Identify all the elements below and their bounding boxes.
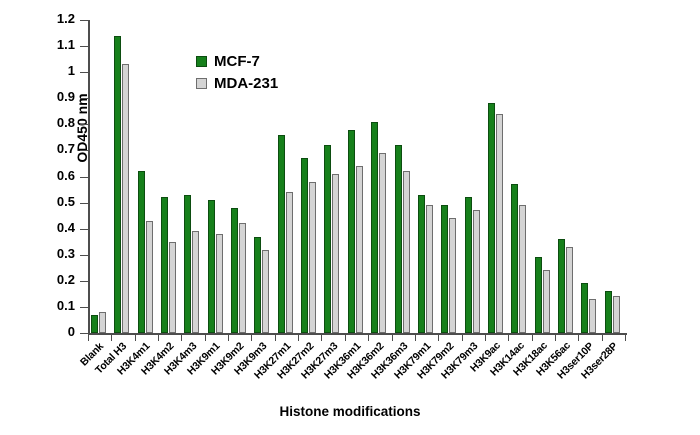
bar-group[interactable]: [88, 20, 111, 333]
x-tick: [368, 335, 369, 341]
bar-mcf7[interactable]: [371, 122, 378, 333]
y-tick-label: 0.1: [57, 298, 75, 313]
bar-mcf7[interactable]: [278, 135, 285, 333]
bar-group[interactable]: [532, 20, 555, 333]
bar-mcf7[interactable]: [605, 291, 612, 333]
bar-mcf7[interactable]: [535, 257, 542, 333]
y-tick-label: 0: [68, 324, 75, 339]
bar-mda231[interactable]: [473, 210, 480, 333]
x-tick: [135, 335, 136, 341]
gray-square-icon: [196, 78, 207, 89]
y-tick-label: 0.6: [57, 168, 75, 183]
bar-mda231[interactable]: [519, 205, 526, 333]
bar-group[interactable]: [555, 20, 578, 333]
bar-group[interactable]: [345, 20, 368, 333]
x-tick: [321, 335, 322, 341]
x-tick: [88, 335, 89, 341]
bar-mda231[interactable]: [426, 205, 433, 333]
y-tick-label: 0.8: [57, 115, 75, 130]
y-tick: 0.9: [80, 98, 88, 99]
bar-group[interactable]: [321, 20, 344, 333]
bar-group[interactable]: [135, 20, 158, 333]
y-tick-label: 0.2: [57, 272, 75, 287]
bar-mda231[interactable]: [613, 296, 620, 333]
bar-mcf7[interactable]: [91, 315, 98, 333]
bar-mda231[interactable]: [566, 247, 573, 333]
legend-label-mcf7: MCF-7: [214, 53, 260, 70]
bar-mcf7[interactable]: [418, 195, 425, 333]
bar-mda231[interactable]: [286, 192, 293, 333]
bar-mcf7[interactable]: [184, 195, 191, 333]
bar-mcf7[interactable]: [348, 130, 355, 333]
bar-mda231[interactable]: [403, 171, 410, 333]
bar-mcf7[interactable]: [488, 103, 495, 333]
x-tick: [578, 335, 579, 341]
y-tick: 0.2: [80, 281, 88, 282]
bar-mcf7[interactable]: [254, 237, 261, 334]
x-tick: [228, 335, 229, 341]
bar-mda231[interactable]: [216, 234, 223, 333]
bar-mda231[interactable]: [332, 174, 339, 333]
bar-group[interactable]: [158, 20, 181, 333]
bar-group[interactable]: [438, 20, 461, 333]
bar-mda231[interactable]: [309, 182, 316, 333]
bar-mcf7[interactable]: [231, 208, 238, 333]
x-tick: [555, 335, 556, 341]
y-tick-label: 0.9: [57, 89, 75, 104]
bar-mda231[interactable]: [543, 270, 550, 333]
y-tick-label: 1.2: [57, 11, 75, 26]
x-tick: [532, 335, 533, 341]
x-tick: [205, 335, 206, 341]
bar-mcf7[interactable]: [395, 145, 402, 333]
x-tick: [251, 335, 252, 341]
y-tick: 1.2: [80, 20, 88, 21]
x-tick: [602, 335, 603, 341]
x-tick: [158, 335, 159, 341]
y-tick: 0.1: [80, 307, 88, 308]
y-tick: 0.3: [80, 255, 88, 256]
x-axis-title: Histone modifications: [0, 404, 700, 419]
legend-item-mcf7: MCF-7: [196, 50, 278, 72]
x-axis-line: [88, 333, 627, 335]
bar-chart-figure: OD450 nm 00.10.20.30.40.50.60.70.80.911.…: [0, 0, 700, 435]
legend-label-mda231: MDA-231: [214, 75, 278, 92]
y-tick: 0: [80, 333, 88, 334]
plot-area: 00.10.20.30.40.50.60.70.80.911.11.2: [88, 20, 625, 333]
y-tick: 0.6: [80, 177, 88, 178]
x-tick: [485, 335, 486, 341]
bar-mcf7[interactable]: [441, 205, 448, 333]
bar-mcf7[interactable]: [581, 283, 588, 333]
bar-mda231[interactable]: [496, 114, 503, 333]
y-tick-label: 0.7: [57, 141, 75, 156]
y-tick: 0.7: [80, 150, 88, 151]
bar-group[interactable]: [462, 20, 485, 333]
bar-mda231[interactable]: [169, 242, 176, 333]
chart-legend: MCF-7 MDA-231: [196, 50, 278, 94]
bar-group[interactable]: [602, 20, 625, 333]
bar-mda231[interactable]: [379, 153, 386, 333]
bar-mcf7[interactable]: [301, 158, 308, 333]
x-tick: [298, 335, 299, 341]
bar-mcf7[interactable]: [465, 197, 472, 333]
bar-mda231[interactable]: [122, 64, 129, 333]
bar-mda231[interactable]: [239, 223, 246, 333]
x-tick: [625, 335, 626, 341]
bar-mcf7[interactable]: [558, 239, 565, 333]
y-tick: 1: [80, 72, 88, 73]
bar-group[interactable]: [392, 20, 415, 333]
legend-item-mda231: MDA-231: [196, 72, 278, 94]
y-tick-label: 0.3: [57, 246, 75, 261]
bar-mda231[interactable]: [99, 312, 106, 333]
bar-group[interactable]: [415, 20, 438, 333]
x-tick: [345, 335, 346, 341]
bar-mda231[interactable]: [146, 221, 153, 333]
x-tick: [275, 335, 276, 341]
y-tick: 0.8: [80, 124, 88, 125]
x-tick: [111, 335, 112, 341]
x-tick: [181, 335, 182, 341]
x-tick: [508, 335, 509, 341]
x-tick: [392, 335, 393, 341]
y-tick-label: 1.1: [57, 37, 75, 52]
bar-group[interactable]: [508, 20, 531, 333]
bar-group[interactable]: [298, 20, 321, 333]
bar-group[interactable]: [275, 20, 298, 333]
bar-mcf7[interactable]: [324, 145, 331, 333]
bar-mcf7[interactable]: [511, 184, 518, 333]
x-tick: [462, 335, 463, 341]
x-tick: [438, 335, 439, 341]
bar-mcf7[interactable]: [114, 36, 121, 333]
bar-mda231[interactable]: [449, 218, 456, 333]
bar-group[interactable]: [111, 20, 134, 333]
y-tick: 0.4: [80, 229, 88, 230]
bar-mcf7[interactable]: [208, 200, 215, 333]
bar-group[interactable]: [368, 20, 391, 333]
y-tick: 0.5: [80, 203, 88, 204]
bar-mda231[interactable]: [262, 250, 269, 333]
bar-group[interactable]: [485, 20, 508, 333]
bar-group[interactable]: [578, 20, 601, 333]
bar-mcf7[interactable]: [138, 171, 145, 333]
green-square-icon: [196, 56, 207, 67]
y-tick-label: 0.5: [57, 194, 75, 209]
bar-mda231[interactable]: [356, 166, 363, 333]
y-tick-label: 1: [68, 63, 75, 78]
bar-mcf7[interactable]: [161, 197, 168, 333]
bar-mda231[interactable]: [192, 231, 199, 333]
x-tick: [415, 335, 416, 341]
y-tick-label: 0.4: [57, 220, 75, 235]
y-tick: 1.1: [80, 46, 88, 47]
bar-mda231[interactable]: [589, 299, 596, 333]
